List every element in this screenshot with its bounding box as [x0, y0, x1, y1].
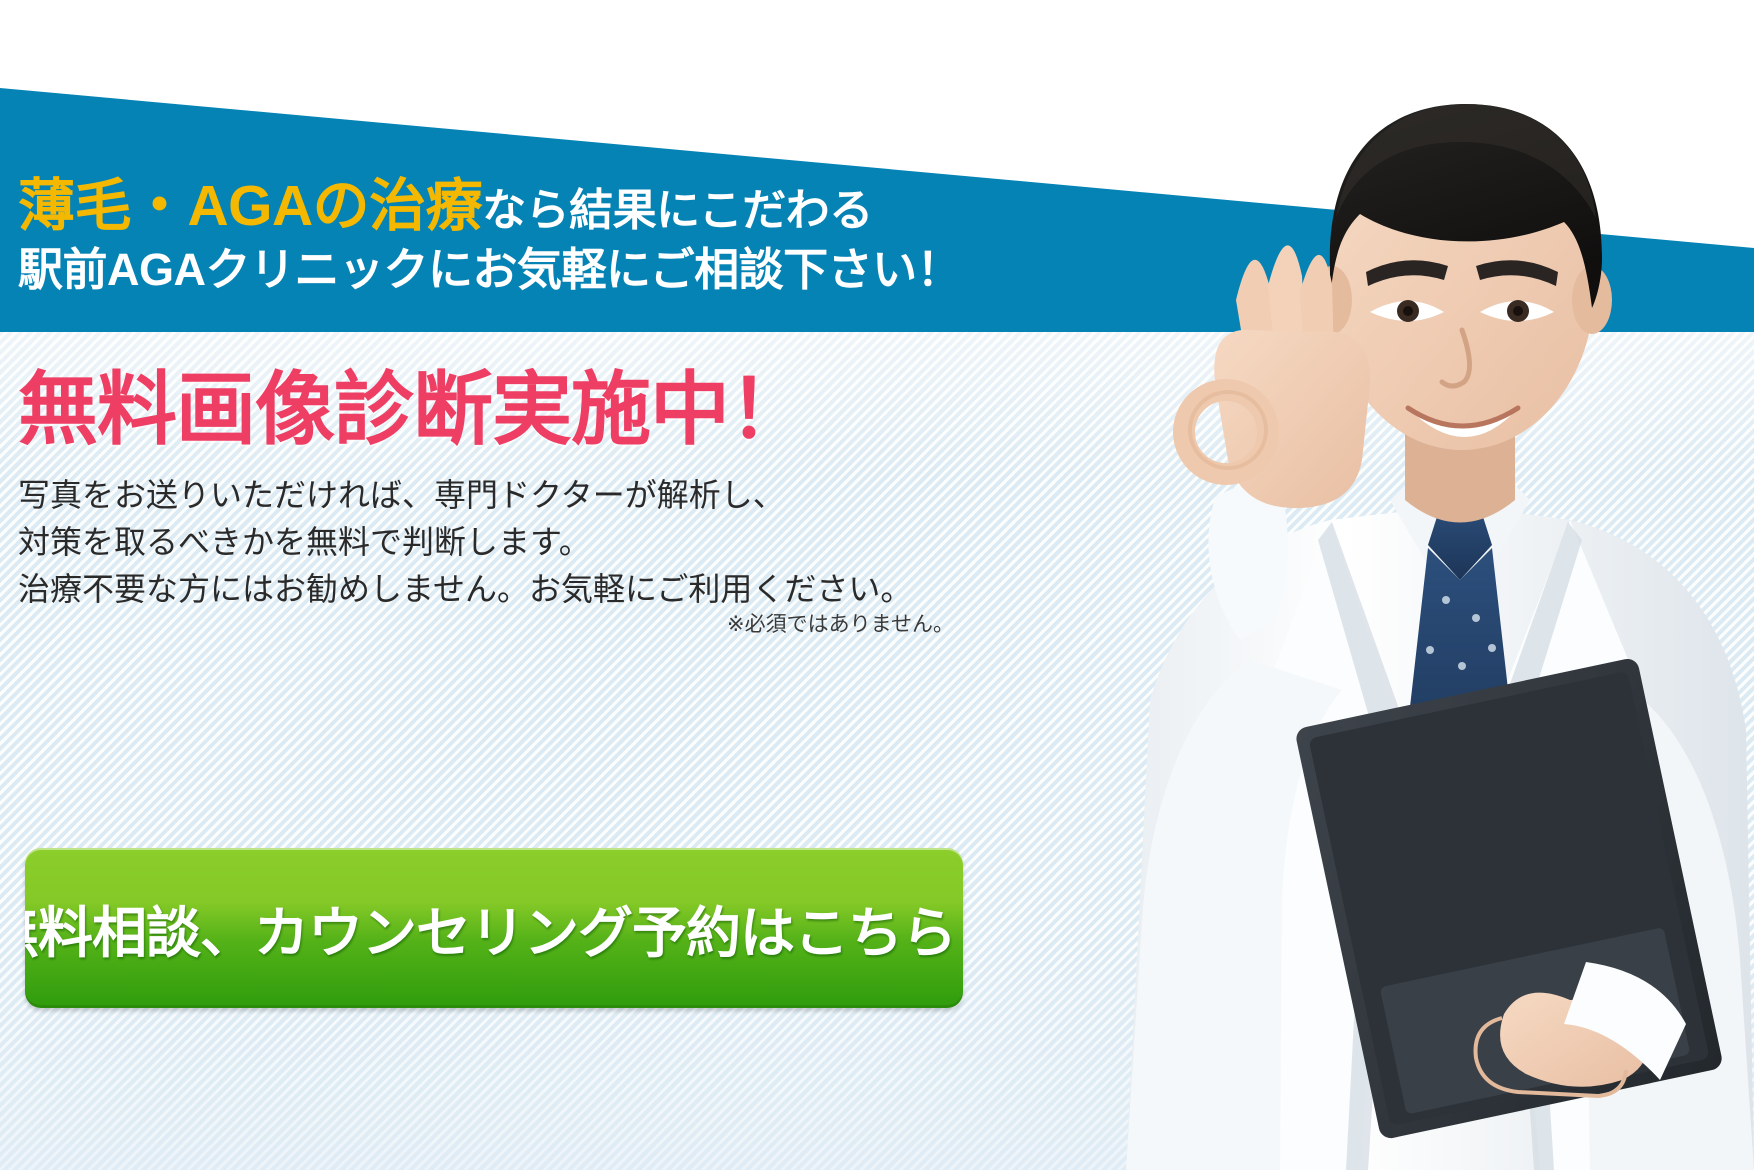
cta-label: 無料相談、カウンセリング予約はこちら — [25, 888, 956, 968]
cta-inner: 無料相談、カウンセリング予約はこちら — [25, 888, 963, 968]
optional-note: ※必須ではありません。 — [727, 608, 954, 638]
page-title: 無料画像診断実施中！ — [18, 368, 808, 452]
body-copy-line-3: 治療不要な方にはお勧めしません。お気軽にご利用ください。 — [18, 566, 978, 613]
striped-background — [0, 330, 1754, 1170]
body-copy-line-1: 写真をお送りいただければ、専門ドクターが解析し、 — [18, 472, 978, 519]
banner-highlight-text: 薄毛・AGAの治療 — [18, 174, 482, 238]
body-copy: 写真をお送りいただければ、専門ドクターが解析し、 対策を取るべきかを無料で判断し… — [18, 472, 978, 613]
banner-text-block: 薄毛・AGAの治療なら結果にこだわる 駅前AGAクリニックにお気軽にご相談下さい… — [18, 176, 1118, 298]
banner-headline-line-1: 薄毛・AGAの治療なら結果にこだわる — [18, 176, 1118, 238]
free-consultation-cta-button[interactable]: 無料相談、カウンセリング予約はこちら — [25, 848, 963, 1008]
body-copy-line-2: 対策を取るべきかを無料で判断します。 — [18, 519, 978, 566]
landing-page: 薄毛・AGAの治療なら結果にこだわる 駅前AGAクリニックにお気軽にご相談下さい… — [0, 0, 1754, 1170]
banner-headline-line-2: 駅前AGAクリニックにお気軽にご相談下さい！ — [18, 242, 1118, 298]
banner-rest-text: なら結果にこだわる — [482, 186, 873, 235]
